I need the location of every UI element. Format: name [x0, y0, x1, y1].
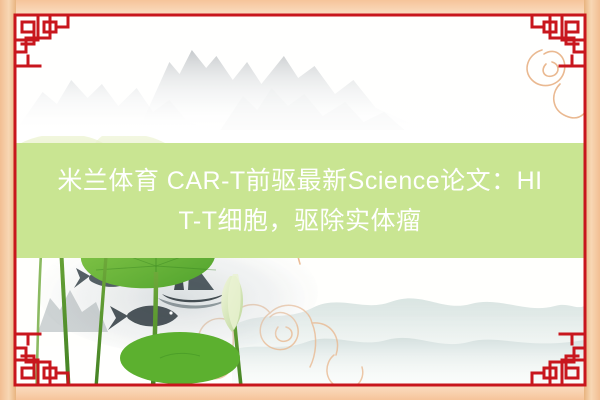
- outer-border-bottom: [0, 384, 600, 400]
- title-band: 米兰体育 CAR-T前驱最新Science论文：HI T-T细胞，驱除实体瘤: [0, 143, 600, 258]
- title-line-2: T-T细胞，驱除实体瘤: [179, 201, 422, 241]
- outer-border-left: [0, 0, 16, 400]
- title-line-1: 米兰体育 CAR-T前驱最新Science论文：HI: [57, 161, 542, 201]
- outer-border-top: [0, 0, 600, 16]
- poster-canvas: 米兰体育 CAR-T前驱最新Science论文：HI T-T细胞，驱除实体瘤: [0, 0, 600, 400]
- lotus-bud-right: [221, 274, 243, 332]
- outer-border-right: [584, 0, 600, 400]
